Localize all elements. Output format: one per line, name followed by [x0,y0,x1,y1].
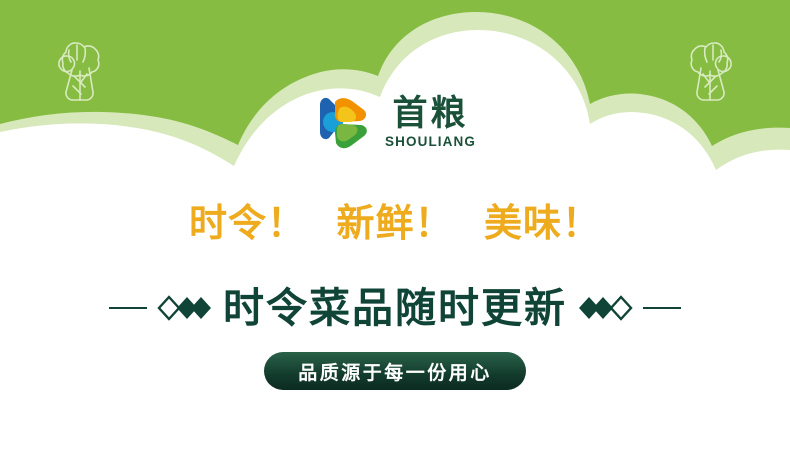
headline-text: 时令菜品随时更新 [223,288,567,329]
shouliang-logo-mark [314,93,372,153]
tagline-3: 美味！ [484,192,601,247]
logo-name-en: SHOULIANG [385,134,476,149]
tagline-2: 新鲜！ [336,192,453,247]
logo-wordmark: 首粮 SHOULIANG [385,97,476,150]
tagline-row: 时令！ 新鲜！ 美味！ [0,192,790,247]
rule-left [109,307,147,309]
tagline-1: 时令！ [189,192,306,247]
badge-row: 品质源于每一份用心 [0,352,790,390]
diamond-ornament-left [157,295,213,321]
logo-name-cn: 首粮 [392,97,468,133]
logo-lockup: 首粮 SHOULIANG [0,88,790,158]
quality-badge: 品质源于每一份用心 [264,352,526,390]
rule-right [643,307,681,309]
promo-banner: 首粮 SHOULIANG 时令！ 新鲜！ 美味！ 时令菜品随时更新 品质源于每一… [0,0,790,453]
diamond-ornament-right [577,295,633,321]
headline-row: 时令菜品随时更新 [0,283,790,333]
